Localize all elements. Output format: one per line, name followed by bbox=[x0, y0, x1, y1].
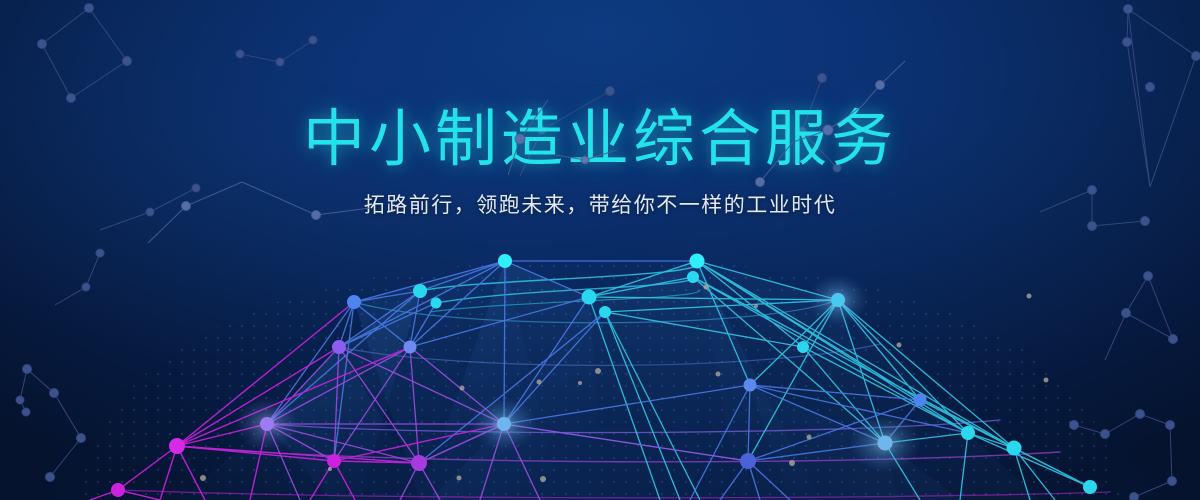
network-dome-graphic bbox=[0, 0, 1200, 500]
warm-specks bbox=[200, 285, 1049, 483]
hero-banner: 中小制造业综合服务 拓路前行，领跑未来，带给你不一样的工业时代 bbox=[0, 0, 1200, 500]
